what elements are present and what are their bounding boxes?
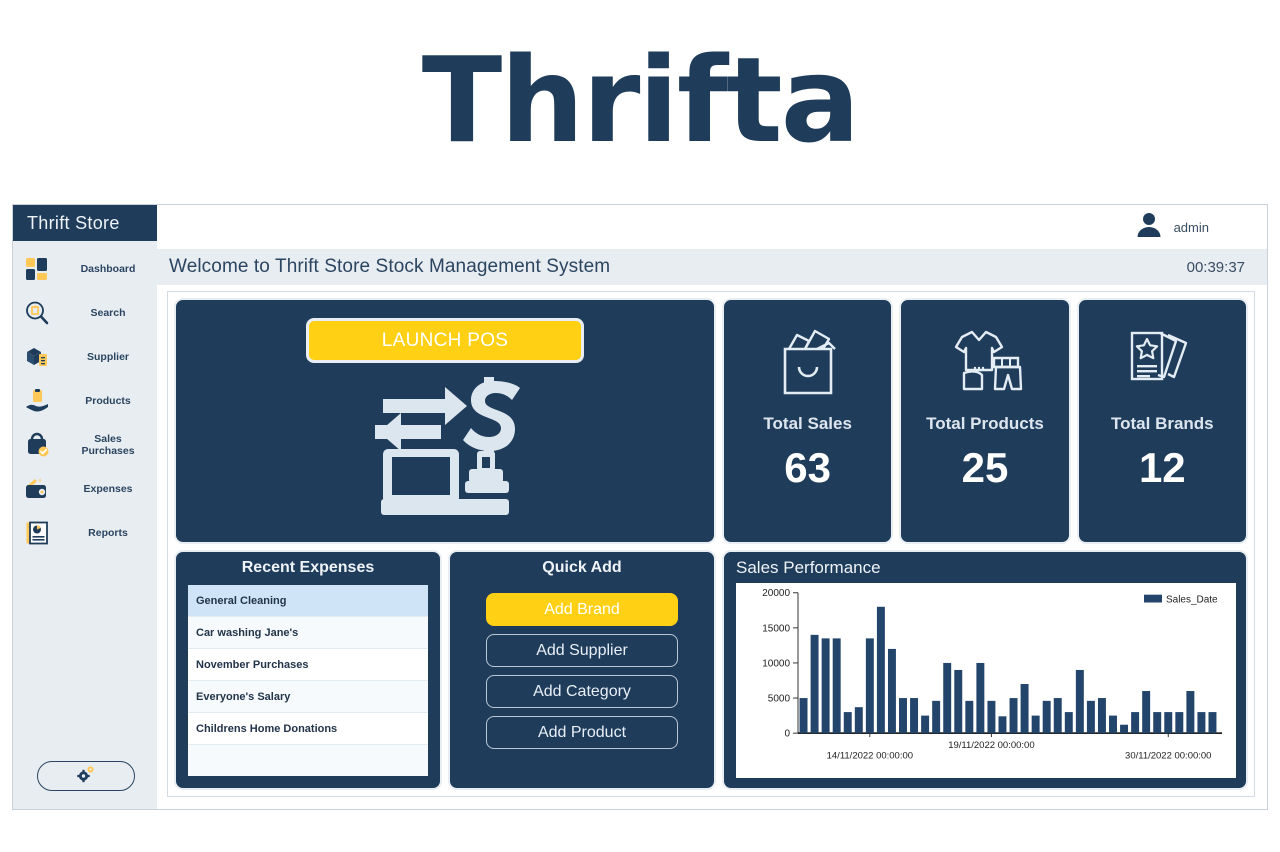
svg-text:10000: 10000 xyxy=(762,658,790,669)
stat-card-total-sales: Total Sales 63 xyxy=(722,298,893,544)
sidebar-item-label: Reports xyxy=(59,527,157,539)
products-hand-icon xyxy=(23,387,51,415)
sidebar-header: Thrift Store xyxy=(13,205,157,241)
quick-add-title: Quick Add xyxy=(542,559,621,577)
svg-text:20000: 20000 xyxy=(762,588,790,599)
sidebar-item-supplier[interactable]: Supplier xyxy=(13,335,157,379)
sidebar-item-label: Products xyxy=(59,395,157,407)
dashboard-bottom-row: Recent Expenses General Cleaning Car was… xyxy=(174,550,1248,790)
sales-performance-title: Sales Performance xyxy=(736,558,1236,578)
launch-pos-button[interactable]: LAUNCH POS xyxy=(306,318,584,363)
pos-terminal-icon xyxy=(365,377,525,522)
add-brand-button[interactable]: Add Brand xyxy=(486,593,678,626)
dashboard-area: LAUNCH POS xyxy=(167,291,1255,797)
list-item[interactable]: Car washing Jane's xyxy=(188,617,428,649)
list-item[interactable]: General Cleaning xyxy=(188,585,428,617)
sidebar-item-expenses[interactable]: Expenses xyxy=(13,467,157,511)
welcome-bar: Welcome to Thrift Store Stock Management… xyxy=(157,249,1267,285)
list-item[interactable]: Childrens Home Donations xyxy=(188,713,428,745)
recent-expenses-title: Recent Expenses xyxy=(188,559,428,577)
user-name: admin xyxy=(1174,220,1209,235)
gear-icon xyxy=(75,764,97,789)
svg-text:5000: 5000 xyxy=(768,694,791,705)
stat-value: 63 xyxy=(784,444,831,492)
sidebar: Thrift Store Dashboard xyxy=(13,205,157,809)
app-window: Thrift Store Dashboard xyxy=(12,204,1268,810)
sidebar-item-label: Dashboard xyxy=(59,263,157,275)
supplier-box-icon xyxy=(23,343,51,371)
svg-text:14/11/2022 00:00:00: 14/11/2022 00:00:00 xyxy=(827,751,913,761)
sidebar-item-label: Supplier xyxy=(59,351,157,363)
wallet-icon xyxy=(23,475,51,503)
sidebar-item-reports[interactable]: Reports xyxy=(13,511,157,555)
dashboard-top-row: LAUNCH POS xyxy=(174,298,1248,544)
svg-text:0: 0 xyxy=(784,729,790,740)
dashboard-icon xyxy=(23,255,51,283)
user-box[interactable]: admin xyxy=(1134,210,1209,245)
svg-text:19/11/2022 00:00:00: 19/11/2022 00:00:00 xyxy=(948,740,1034,750)
sidebar-item-label: Sales Purchases xyxy=(59,433,157,457)
recent-expenses-list[interactable]: General Cleaning Car washing Jane's Nove… xyxy=(188,585,428,776)
user-avatar-icon xyxy=(1134,210,1164,245)
brand-banner: Thrifta xyxy=(0,0,1280,200)
clock: 00:39:37 xyxy=(1187,259,1245,276)
report-icon xyxy=(23,519,51,547)
stat-label: Total Products xyxy=(926,414,1044,434)
stat-label: Total Sales xyxy=(763,414,852,434)
svg-text:Sales_Date: Sales_Date xyxy=(1166,595,1218,606)
shopping-bag-icon xyxy=(773,322,843,400)
sales-bar-chart: 0500010000150002000014/11/2022 00:00:001… xyxy=(736,583,1236,778)
stat-value: 25 xyxy=(962,444,1009,492)
list-item[interactable]: November Purchases xyxy=(188,649,428,681)
brand-title: Thrifta xyxy=(422,41,859,159)
svg-text:30/11/2022 00:00:00: 30/11/2022 00:00:00 xyxy=(1125,751,1211,761)
sales-performance-panel: Sales Performance 0500010000150002000014… xyxy=(722,550,1248,790)
list-item[interactable]: Everyone's Salary xyxy=(188,681,428,713)
sales-bag-icon xyxy=(23,431,51,459)
sidebar-item-label: Expenses xyxy=(59,483,157,495)
sidebar-item-sales-purchases[interactable]: Sales Purchases xyxy=(13,423,157,467)
add-supplier-button[interactable]: Add Supplier xyxy=(486,634,678,667)
list-item[interactable] xyxy=(188,745,428,776)
add-product-button[interactable]: Add Product xyxy=(486,716,678,749)
brand-cards-icon xyxy=(1124,322,1200,400)
svg-text:15000: 15000 xyxy=(762,623,790,634)
quick-add-panel: Quick Add Add Brand Add Supplier Add Cat… xyxy=(448,550,716,790)
sidebar-nav-list: Dashboard Search xyxy=(13,241,157,555)
add-category-button[interactable]: Add Category xyxy=(486,675,678,708)
topbar: admin xyxy=(157,205,1267,249)
settings-button[interactable] xyxy=(37,761,135,791)
sidebar-item-search[interactable]: Search xyxy=(13,291,157,335)
sidebar-item-label: Search xyxy=(59,307,157,319)
stat-value: 12 xyxy=(1139,444,1186,492)
sales-chart: 0500010000150002000014/11/2022 00:00:001… xyxy=(736,583,1236,778)
stat-card-total-products: Total Products 25 xyxy=(899,298,1070,544)
clothing-icon xyxy=(946,322,1024,400)
recent-expenses-panel: Recent Expenses General Cleaning Car was… xyxy=(174,550,442,790)
stat-card-total-brands: Total Brands 12 xyxy=(1077,298,1248,544)
stat-label: Total Brands xyxy=(1111,414,1214,434)
pos-panel: LAUNCH POS xyxy=(174,298,716,544)
main-content: admin Welcome to Thrift Store Stock Mana… xyxy=(157,205,1267,809)
sidebar-item-products[interactable]: Products xyxy=(13,379,157,423)
search-icon xyxy=(23,299,51,327)
sidebar-item-dashboard[interactable]: Dashboard xyxy=(13,247,157,291)
page-title: Welcome to Thrift Store Stock Management… xyxy=(169,256,610,278)
